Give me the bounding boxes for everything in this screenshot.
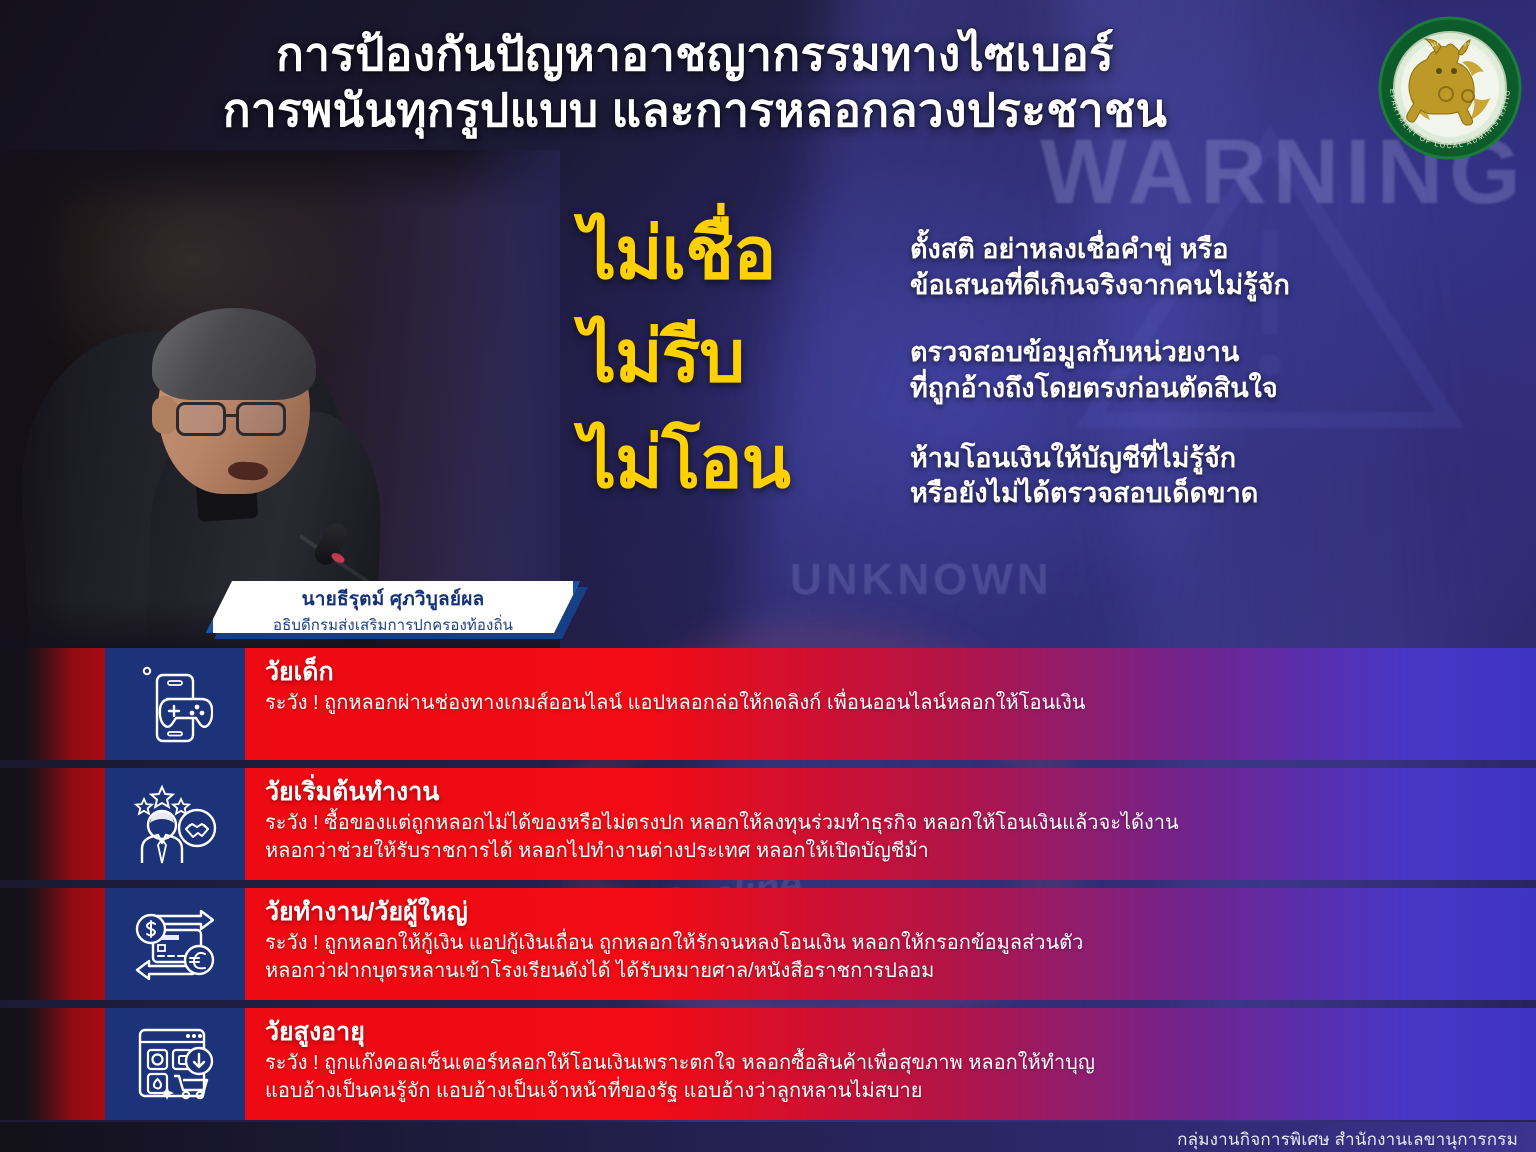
slogan-item-1: ไม่เชื่อ ตั้งสติ อย่าหลงเชื่อคำขู่ หรือ … bbox=[580, 218, 1480, 303]
row-description: ระวัง ! ถูกหลอกให้กู้เงิน แอปกู้เงินเถื่… bbox=[265, 929, 1516, 986]
photo-glasses-bridge bbox=[225, 414, 239, 417]
smartphone-game-controller-icon bbox=[137, 663, 213, 745]
row-description: ระวัง ! ถูกแก๊งคอลเซ็นเตอร์หลอกให้โอนเงิ… bbox=[265, 1049, 1516, 1106]
row-description-line-2: หลอกว่าฝากบุตรหลานเข้าโรงเรียนดังได้ ได้… bbox=[265, 957, 1516, 985]
age-group-row: วัยสูงอายุ ระวัง ! ถูกแก๊งคอลเซ็นเตอร์หล… bbox=[0, 1008, 1536, 1120]
row-description-line-1: ระวัง ! ถูกแก๊งคอลเซ็นเตอร์หลอกให้โอนเงิ… bbox=[265, 1049, 1516, 1077]
slogan-keyword-2: ไม่รีบ bbox=[580, 321, 910, 394]
age-group-row: วัยเริ่มต้นทำงาน ระวัง ! ซื้อของแต่ถูกหล… bbox=[0, 768, 1536, 880]
row-description-line-2: แอบอ้างเป็นคนรู้จัก แอบอ้างเป็นเจ้าหน้าท… bbox=[265, 1077, 1516, 1105]
row-title: วัยสูงอายุ bbox=[265, 1018, 1516, 1047]
row-icon-box bbox=[105, 648, 245, 760]
slogan-desc-3-line-1: ห้ามโอนเงินให้บัญชีที่ไม่รู้จัก bbox=[910, 441, 1480, 477]
footer-credit: กลุ่มงานกิจการพิเศษ สำนักงานเลขานุการกรม bbox=[1177, 1126, 1518, 1152]
slogan-desc-3: ห้ามโอนเงินให้บัญชีที่ไม่รู้จัก หรือยังไ… bbox=[910, 427, 1480, 512]
title-line-1: การป้องกันปัญหาอาชญากรรมทางไซเบอร์ bbox=[0, 26, 1390, 82]
age-group-row: วัยเด็ก ระวัง ! ถูกหลอกผ่านช่องทางเกมส์อ… bbox=[0, 648, 1536, 760]
photo-fade-right bbox=[450, 150, 560, 650]
businessperson-handshake-stars-icon bbox=[132, 783, 218, 865]
row-title: วัยทำงาน/วัยผู้ใหญ่ bbox=[265, 898, 1516, 927]
slogan-keyword-3: ไม่โอน bbox=[580, 427, 910, 500]
age-group-rows: วัยเด็ก ระวัง ! ถูกหลอกผ่านช่องทางเกมส์อ… bbox=[0, 648, 1536, 1128]
row-description-line-1: ระวัง ! ถูกหลอกให้กู้เงิน แอปกู้เงินเถื่… bbox=[265, 929, 1516, 957]
department-seal-logo: กรมส่งเสริมการปกครองท้องถิ่น DEPARTMENT … bbox=[1376, 14, 1524, 162]
title-line-2: การพนันทุกรูปแบบ และการหลอกลวงประชาชน bbox=[0, 82, 1390, 138]
slogan-desc-1: ตั้งสติ อย่าหลงเชื่อคำขู่ หรือ ข้อเสนอที… bbox=[910, 218, 1480, 303]
poster-title: การป้องกันปัญหาอาชญากรรมทางไซเบอร์ การพน… bbox=[0, 26, 1390, 138]
row-content: วัยทำงาน/วัยผู้ใหญ่ ระวัง ! ถูกหลอกให้กู… bbox=[245, 888, 1536, 1000]
speaker-name: นายธีรุตม์ ศุภวิบูลย์ผล bbox=[206, 581, 580, 614]
row-description: ระวัง ! ซื้อของแต่ถูกหลอกไม่ได้ของหรือไม… bbox=[265, 809, 1516, 866]
row-description: ระวัง ! ถูกหลอกผ่านช่องทางเกมส์ออนไลน์ แ… bbox=[265, 689, 1516, 717]
slogan-keyword-1: ไม่เชื่อ bbox=[580, 218, 910, 291]
row-description-line-2: หลอกว่าช่วยให้รับราชการได้ หลอกไปทำงานต่… bbox=[265, 837, 1516, 865]
row-content: วัยสูงอายุ ระวัง ! ถูกแก๊งคอลเซ็นเตอร์หล… bbox=[245, 1008, 1536, 1120]
row-left-fade bbox=[0, 1008, 105, 1120]
row-left-fade bbox=[0, 768, 105, 880]
row-content: วัยเด็ก ระวัง ! ถูกหลอกผ่านช่องทางเกมส์อ… bbox=[245, 648, 1536, 760]
row-icon-box bbox=[105, 888, 245, 1000]
slogan-block: ไม่เชื่อ ตั้งสติ อย่าหลงเชื่อคำขู่ หรือ … bbox=[580, 218, 1480, 518]
unknown-watermark-text: UNKNOWN bbox=[790, 555, 1053, 605]
slogan-item-2: ไม่รีบ ตรวจสอบข้อมูลกับหน่วยงาน ที่ถูกอ้… bbox=[580, 321, 1480, 406]
row-description-line-1: ระวัง ! ซื้อของแต่ถูกหลอกไม่ได้ของหรือไม… bbox=[265, 809, 1516, 837]
photo-glasses-left bbox=[176, 402, 226, 436]
row-title: วัยเด็ก bbox=[265, 658, 1516, 687]
infographic-poster: WARNING UNKNOWN Decline การป้องกันปัญหาอ… bbox=[0, 0, 1536, 1152]
money-transfer-exchange-icon bbox=[133, 904, 217, 984]
speaker-photo bbox=[0, 150, 560, 650]
slogan-desc-2: ตรวจสอบข้อมูลกับหน่วยงาน ที่ถูกอ้างถึงโด… bbox=[910, 321, 1480, 406]
row-left-fade bbox=[0, 648, 105, 760]
photo-ear bbox=[152, 396, 178, 434]
row-icon-box bbox=[105, 1008, 245, 1120]
speaker-role: อธิบดีกรมส่งเสริมการปกครองท้องถิ่น bbox=[206, 613, 580, 637]
slogan-desc-2-line-2: ที่ถูกอ้างถึงโดยตรงก่อนตัดสินใจ bbox=[910, 371, 1480, 407]
row-title: วัยเริ่มต้นทำงาน bbox=[265, 778, 1516, 807]
row-icon-box bbox=[105, 768, 245, 880]
photo-glasses-right bbox=[236, 402, 286, 436]
photo-fade-left bbox=[0, 150, 70, 650]
row-description-line-1: ระวัง ! ถูกหลอกผ่านช่องทางเกมส์ออนไลน์ แ… bbox=[265, 689, 1516, 717]
speaker-nameplate: นายธีรุตม์ ศุภวิบูลย์ผล อธิบดีกรมส่งเสริ… bbox=[206, 581, 580, 633]
row-content: วัยเริ่มต้นทำงาน ระวัง ! ซื้อของแต่ถูกหล… bbox=[245, 768, 1536, 880]
age-group-row: วัยทำงาน/วัยผู้ใหญ่ ระวัง ! ถูกหลอกให้กู… bbox=[0, 888, 1536, 1000]
slogan-desc-1-line-2: ข้อเสนอที่ดีเกินจริงจากคนไม่รู้จัก bbox=[910, 268, 1480, 304]
footer-bar: กลุ่มงานกิจการพิเศษ สำนักงานเลขานุการกรม bbox=[0, 1122, 1536, 1152]
slogan-desc-1-line-1: ตั้งสติ อย่าหลงเชื่อคำขู่ หรือ bbox=[910, 232, 1480, 268]
slogan-desc-2-line-1: ตรวจสอบข้อมูลกับหน่วยงาน bbox=[910, 335, 1480, 371]
online-shopping-browser-cart-icon bbox=[134, 1024, 216, 1104]
slogan-item-3: ไม่โอน ห้ามโอนเงินให้บัญชีที่ไม่รู้จัก ห… bbox=[580, 427, 1480, 512]
row-left-fade bbox=[0, 888, 105, 1000]
slogan-desc-3-line-2: หรือยังไม่ได้ตรวจสอบเด็ดขาด bbox=[910, 476, 1480, 512]
